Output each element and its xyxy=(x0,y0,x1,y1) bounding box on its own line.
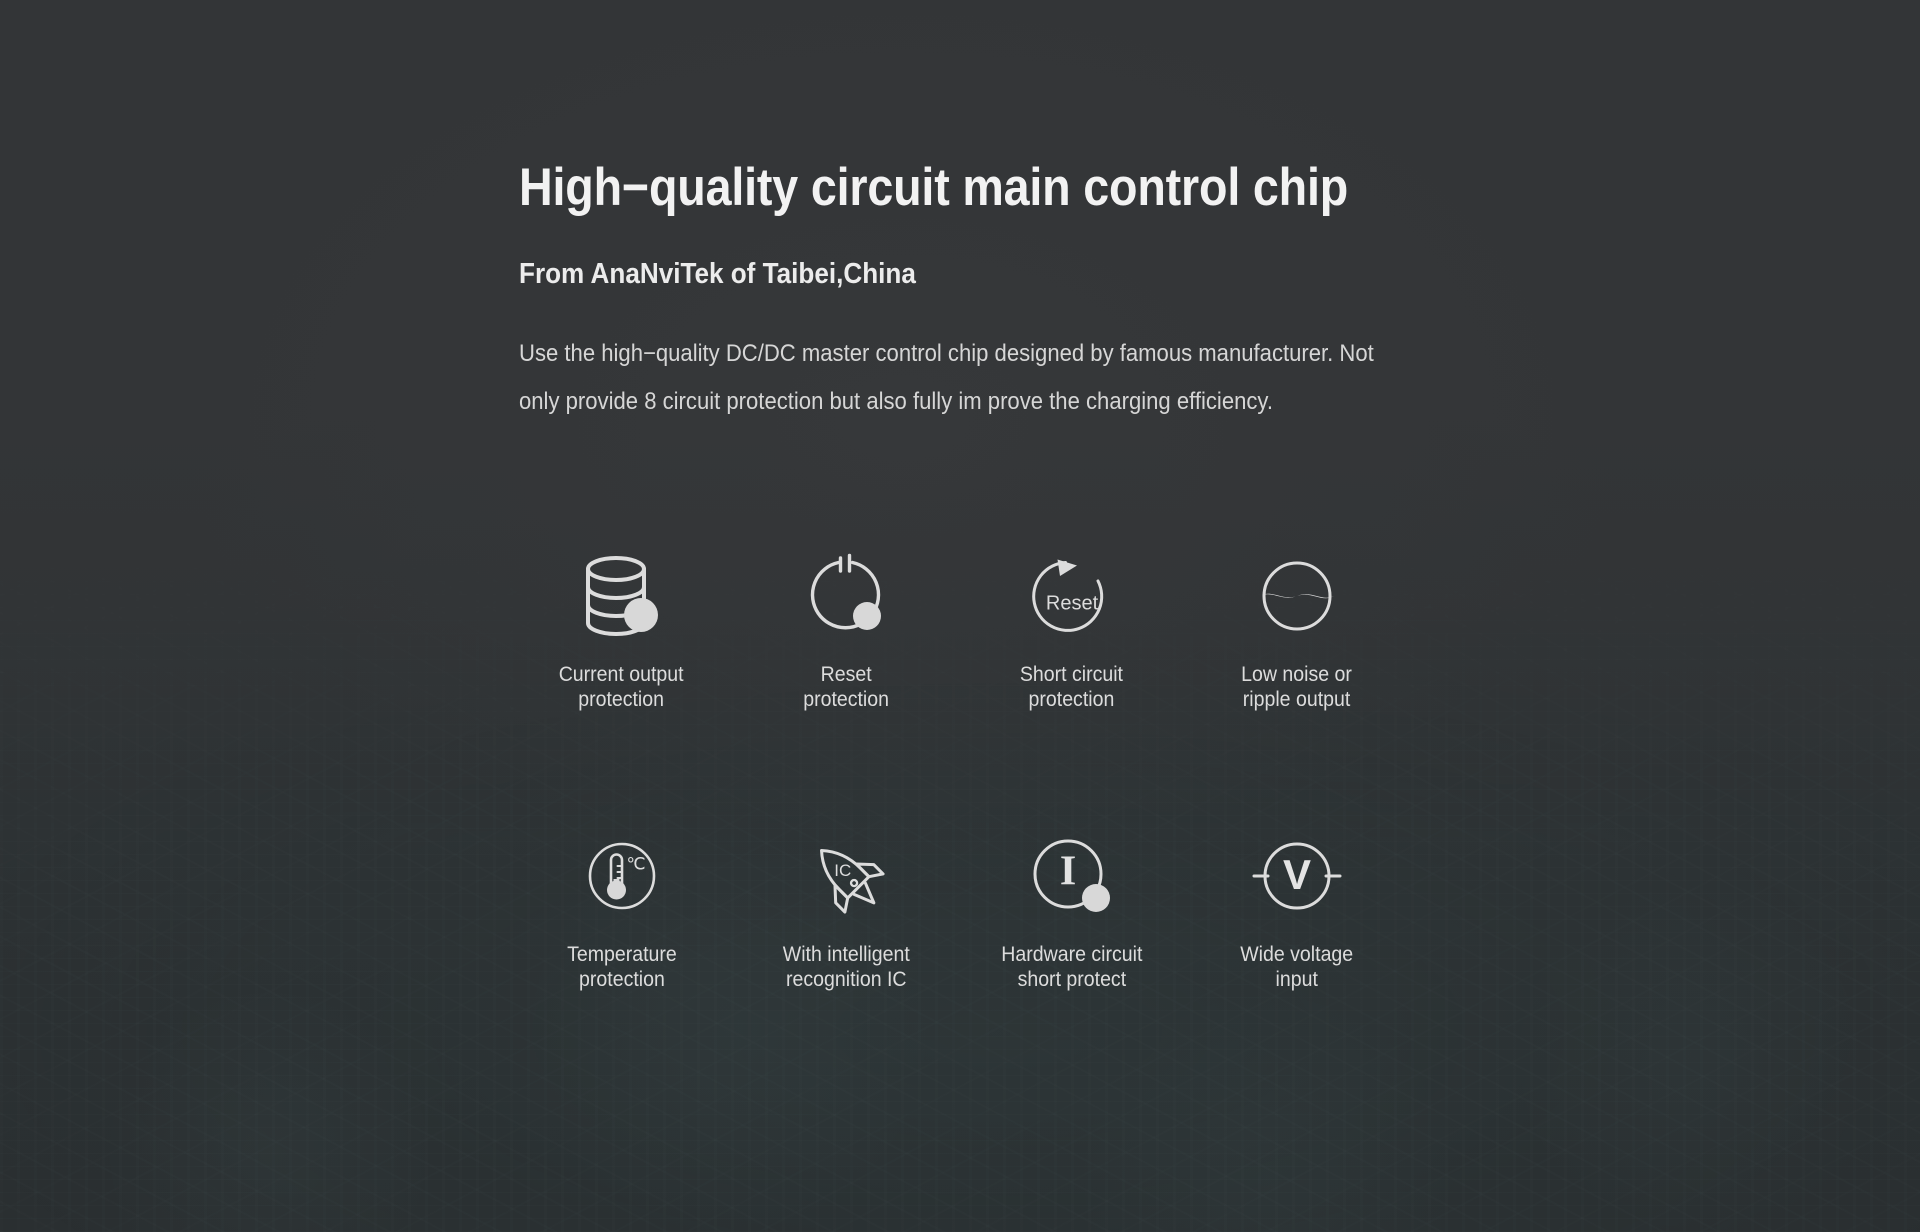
description-paragraph: Use the high−quality DC/DC master contro… xyxy=(519,330,1375,426)
feature-label: Wide voltage input xyxy=(1240,942,1353,992)
promo-banner: High−quality circuit main control chip F… xyxy=(0,0,1920,1232)
feature-label: Temperature protection xyxy=(567,942,677,992)
page-subtitle: From AnaNviTek of Taibei,China xyxy=(519,258,916,291)
feature-item-short-circuit-protection: Reset Short circuit protection xyxy=(959,548,1184,712)
feature-label: Low noise or ripple output xyxy=(1241,662,1352,712)
page-title: High−quality circuit main control chip xyxy=(519,160,1348,216)
feature-item-low-noise-ripple-output: Low noise or ripple output xyxy=(1184,548,1409,712)
feature-item-reset-protection: Reset protection xyxy=(734,548,959,712)
current-icon-text: I xyxy=(1059,849,1075,895)
feature-item-intelligent-recognition-ic: IC With intelligent recognition IC xyxy=(734,828,959,992)
current-i-circle-icon: I xyxy=(1024,828,1120,924)
content-column: High−quality circuit main control chip F… xyxy=(519,0,1519,1232)
power-reset-circle-icon xyxy=(799,548,895,644)
feature-item-current-output-protection: Current output protection xyxy=(509,548,734,712)
voltage-icon-text: V xyxy=(1282,851,1310,898)
feature-item-wide-voltage-input: V Wide voltage input xyxy=(1184,828,1409,992)
feature-grid: Current output protection Reset protecti… xyxy=(509,548,1409,992)
feature-item-temperature-protection: ℃ Temperature protection xyxy=(509,828,734,992)
reset-circular-arrow-icon: Reset xyxy=(1024,548,1120,644)
celsius-icon-text: ℃ xyxy=(626,854,645,873)
database-stack-icon xyxy=(574,548,670,644)
thermometer-celsius-icon: ℃ xyxy=(574,828,670,924)
voltage-v-circle-icon: V xyxy=(1249,828,1345,924)
rocket-icon-text: IC xyxy=(834,861,851,880)
reset-icon-text: Reset xyxy=(1045,592,1098,614)
ripple-wave-circle-icon xyxy=(1249,548,1345,644)
feature-item-hardware-circuit-short-protect: I Hardware circuit short protect xyxy=(959,828,1184,992)
rocket-ic-icon: IC xyxy=(799,828,895,924)
feature-label: Current output protection xyxy=(559,662,684,712)
feature-label: Reset protection xyxy=(804,662,890,712)
feature-label: Short circuit protection xyxy=(1020,662,1123,712)
feature-label: Hardware circuit short protect xyxy=(1001,942,1142,992)
feature-label: With intelligent recognition IC xyxy=(783,942,910,992)
